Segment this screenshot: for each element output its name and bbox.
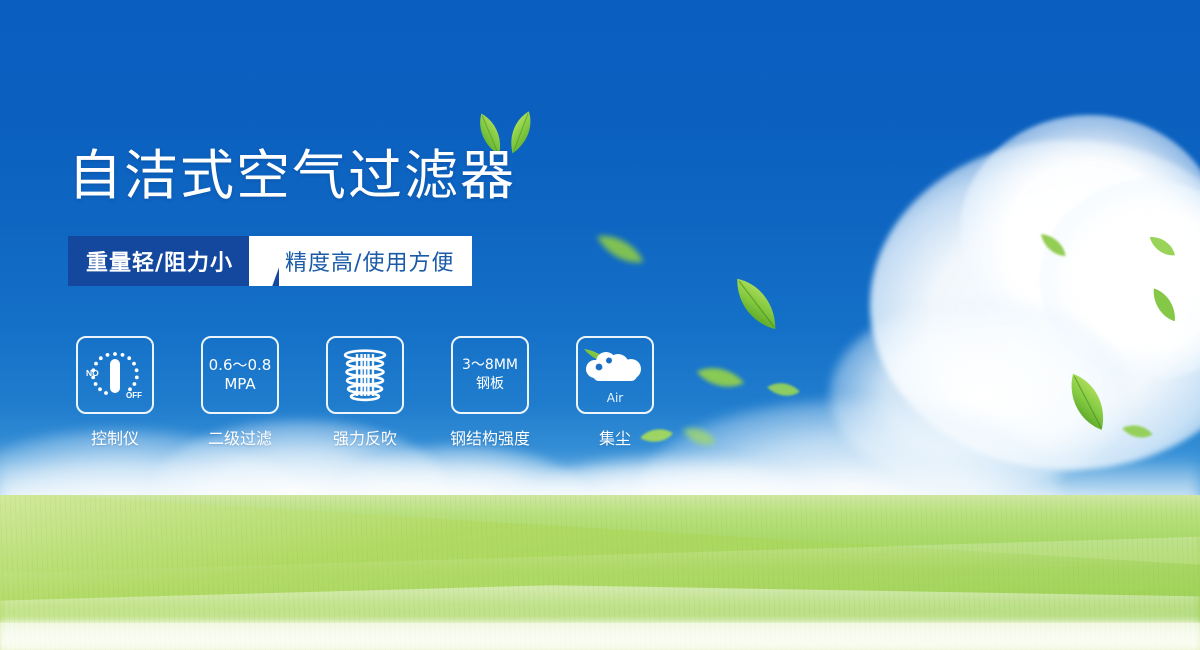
air-cloud-icon [582, 347, 648, 397]
grass-field [0, 495, 1200, 650]
steel-plate-text: 钢板 [476, 375, 504, 394]
subtitle-left-text: 重量轻/阻力小 [68, 236, 249, 286]
subtitle-separator [249, 236, 279, 286]
feature-box-control: NO OFF [76, 336, 154, 414]
page-title: 自洁式空气过滤器 [68, 145, 516, 207]
feature-box-pressure: 0.6〜0.8 MPA [201, 336, 279, 414]
subtitle-right-text: 精度高/使用方便 [279, 236, 472, 286]
feature-icon-row: NO OFF 控制仪 0.6〜0.8 MPA 二级过滤 [76, 336, 654, 449]
grass-texture [0, 495, 1200, 650]
feature-item-backflush[interactable]: 强力反吹 [326, 336, 404, 449]
steel-thickness-text: 3〜8MM [462, 356, 518, 375]
feature-label-steel: 钢结构强度 [450, 425, 530, 449]
feature-item-pressure[interactable]: 0.6〜0.8 MPA 二级过滤 [201, 336, 279, 449]
feature-label-dust: 集尘 [599, 425, 631, 449]
feature-label-control: 控制仪 [91, 425, 139, 449]
feature-label-pressure: 二级过滤 [208, 425, 272, 449]
filter-cartridge-icon [340, 347, 390, 403]
feature-label-backflush: 强力反吹 [333, 425, 397, 449]
product-hero-banner: 自洁式空气过滤器 重量轻/阻力小 精度高/使用方便 [0, 0, 1200, 650]
svg-text:OFF: OFF [126, 391, 142, 400]
svg-text:NO: NO [86, 368, 99, 378]
feature-box-dust: Air [576, 336, 654, 414]
feature-box-steel: 3〜8MM 钢板 [451, 336, 529, 414]
feature-box-backflush [326, 336, 404, 414]
subtitle-bar: 重量轻/阻力小 精度高/使用方便 [68, 236, 472, 286]
feature-item-steel[interactable]: 3〜8MM 钢板 钢结构强度 [451, 336, 529, 449]
pressure-range-text: 0.6〜0.8 [209, 356, 272, 375]
pressure-unit-text: MPA [224, 375, 255, 394]
feature-item-dust[interactable]: Air 集尘 [576, 336, 654, 449]
feature-item-control[interactable]: NO OFF 控制仪 [76, 336, 154, 449]
control-dial-icon: NO OFF [84, 346, 146, 404]
air-text: Air [578, 391, 652, 405]
